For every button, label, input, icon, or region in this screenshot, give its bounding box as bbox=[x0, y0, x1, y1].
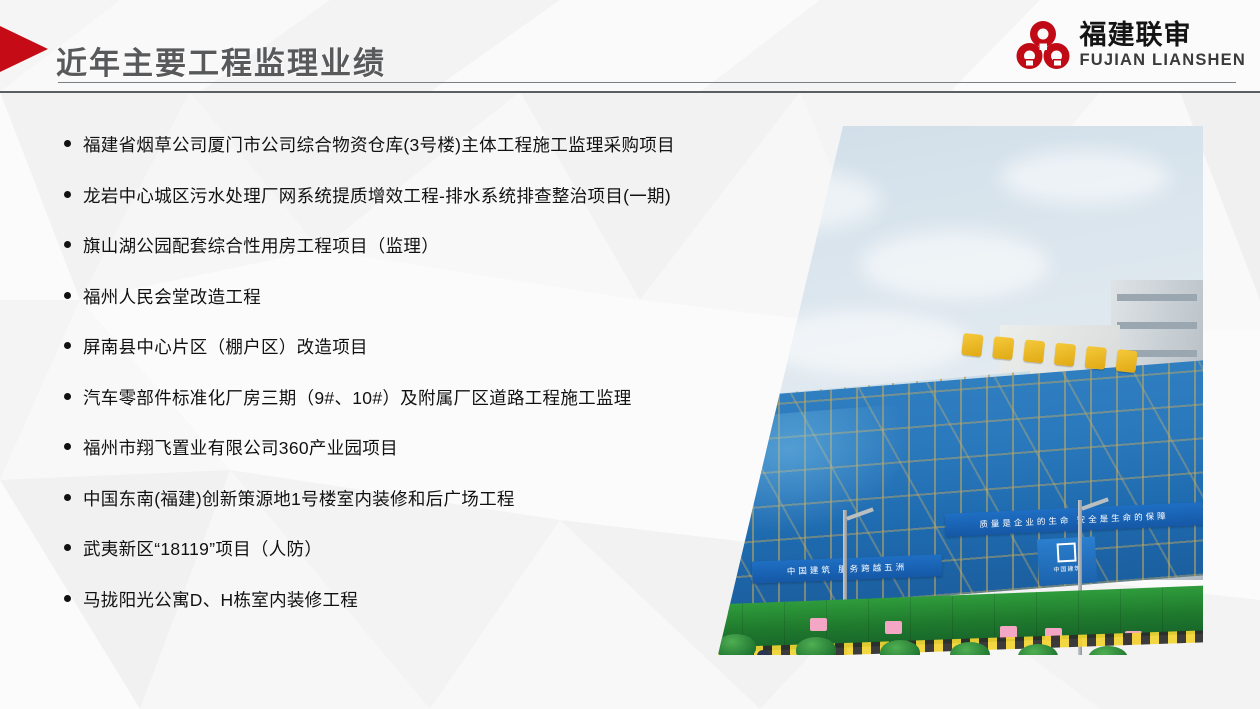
list-item-label: 旗山湖公园配套综合性用房工程项目（监理） bbox=[83, 233, 439, 258]
sign-char bbox=[1085, 346, 1107, 370]
list-item-label: 武夷新区“18119”项目（人防） bbox=[83, 536, 322, 561]
logo-name-cn: 福建联审 bbox=[1079, 21, 1246, 50]
sign-char bbox=[992, 336, 1014, 360]
bush bbox=[716, 634, 756, 659]
bush bbox=[796, 637, 836, 662]
list-item-label: 中国东南(福建)创新策源地1号楼室内装修和后广场工程 bbox=[83, 486, 515, 511]
list-item-label: 马拢阳光公寓D、H栋室内装修工程 bbox=[83, 587, 358, 612]
list-item-label: 汽车零部件标准化厂房三期（9#、10#）及附属厂区道路工程施工监理 bbox=[83, 385, 632, 410]
list-item: 福州人民会堂改造工程 bbox=[64, 284, 804, 335]
list-item-label: 龙岩中心城区污水处理厂网系统提质增效工程-排水系统排查整治项目(一期) bbox=[83, 183, 671, 208]
bullet-dot-icon bbox=[64, 595, 71, 602]
list-item: 汽车零部件标准化厂房三期（9#、10#）及附属厂区道路工程施工监理 bbox=[64, 385, 804, 436]
logo-name-en: FUJIAN LIANSHEN bbox=[1079, 51, 1246, 69]
title-underline bbox=[58, 82, 1236, 83]
taxi bbox=[1144, 666, 1216, 670]
contractor-flag: 中国建筑 bbox=[1037, 537, 1097, 586]
list-item: 龙岩中心城区污水处理厂网系统提质增效工程-排水系统排查整治项目(一期) bbox=[64, 183, 804, 234]
bush bbox=[1088, 646, 1128, 670]
list-item: 马拢阳光公寓D、H栋室内装修工程 bbox=[64, 587, 804, 638]
list-item: 中国东南(福建)创新策源地1号楼室内装修和后广场工程 bbox=[64, 486, 804, 537]
list-item: 福州市翔飞置业有限公司360产业园项目 bbox=[64, 435, 804, 486]
slide: 近年主要工程监理业绩 福建联审 F bbox=[0, 0, 1260, 709]
scooter bbox=[748, 666, 790, 670]
header-divider bbox=[0, 91, 1260, 93]
list-item: 屏南县中心片区（棚户区）改造项目 bbox=[64, 334, 804, 385]
list-item-label: 福州人民会堂改造工程 bbox=[83, 284, 261, 309]
cloud bbox=[1000, 150, 1170, 205]
sign-char bbox=[1023, 339, 1045, 363]
pedestrian bbox=[757, 650, 770, 670]
list-item-label: 屏南县中心片区（棚户区）改造项目 bbox=[83, 334, 368, 359]
contractor-logo-icon bbox=[1057, 543, 1077, 563]
fence-decal bbox=[885, 621, 902, 634]
cloud bbox=[860, 230, 1050, 300]
list-item: 福建省烟草公司厦门市公司综合物资仓库(3号楼)主体工程施工监理采购项目 bbox=[64, 132, 804, 183]
bullet-dot-icon bbox=[64, 544, 71, 551]
list-item: 旗山湖公园配套综合性用房工程项目（监理） bbox=[64, 233, 804, 284]
logo-text: 福建联审 FUJIAN LIANSHEN bbox=[1079, 21, 1246, 68]
fence-decal bbox=[810, 618, 827, 631]
bullet-dot-icon bbox=[64, 241, 71, 248]
list-item-label: 福州市翔飞置业有限公司360产业园项目 bbox=[83, 435, 398, 460]
bush bbox=[950, 642, 990, 667]
sign-char bbox=[1054, 343, 1076, 367]
page-title: 近年主要工程监理业绩 bbox=[56, 38, 386, 83]
list-item-label: 福建省烟草公司厦门市公司综合物资仓库(3号楼)主体工程施工监理采购项目 bbox=[83, 132, 675, 157]
road bbox=[700, 656, 1220, 670]
bush bbox=[1018, 644, 1058, 669]
slide-header: 近年主要工程监理业绩 福建联审 F bbox=[0, 0, 1260, 92]
bullet-dot-icon bbox=[64, 393, 71, 400]
rider bbox=[848, 658, 863, 670]
logo: 福建联审 FUJIAN LIANSHEN bbox=[1015, 14, 1246, 76]
bush bbox=[880, 640, 920, 665]
bullet-dot-icon bbox=[64, 494, 71, 501]
bullet-dot-icon bbox=[64, 140, 71, 147]
fujian-lianshen-trefoil-logo-icon bbox=[1015, 19, 1071, 71]
red-triangle-arrow-icon bbox=[0, 26, 48, 72]
sign-char bbox=[1115, 349, 1137, 373]
project-list: 福建省烟草公司厦门市公司综合物资仓库(3号楼)主体工程施工监理采购项目 龙岩中心… bbox=[64, 132, 804, 637]
sign-char bbox=[961, 333, 983, 357]
bullet-dot-icon bbox=[64, 191, 71, 198]
list-item: 武夷新区“18119”项目（人防） bbox=[64, 536, 804, 587]
bullet-dot-icon bbox=[64, 292, 71, 299]
bullet-dot-icon bbox=[64, 342, 71, 349]
bullet-dot-icon bbox=[64, 443, 71, 450]
